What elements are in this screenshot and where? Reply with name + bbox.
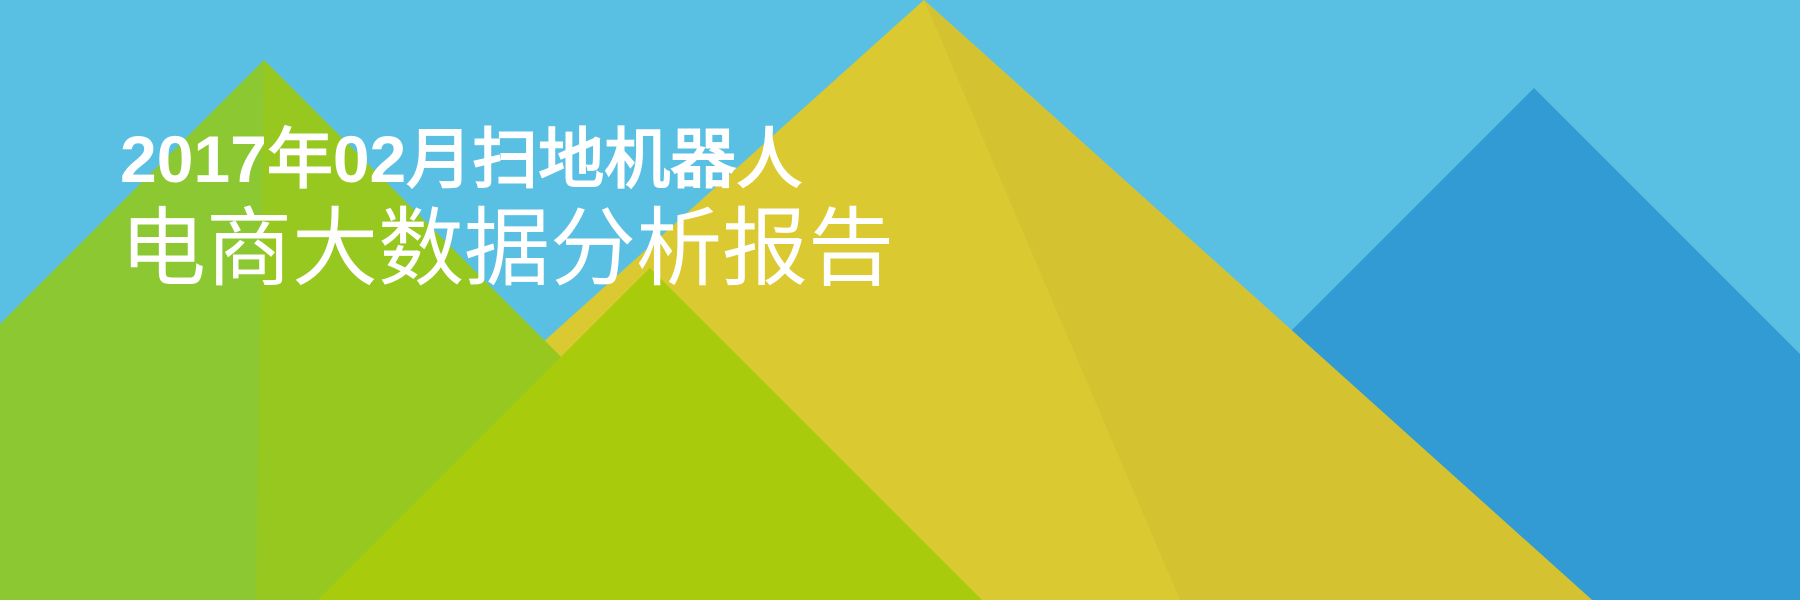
cover-slide: 2017年02月扫地机器人 电商大数据分析报告 [0, 0, 1800, 600]
background-graphic [0, 0, 1800, 600]
